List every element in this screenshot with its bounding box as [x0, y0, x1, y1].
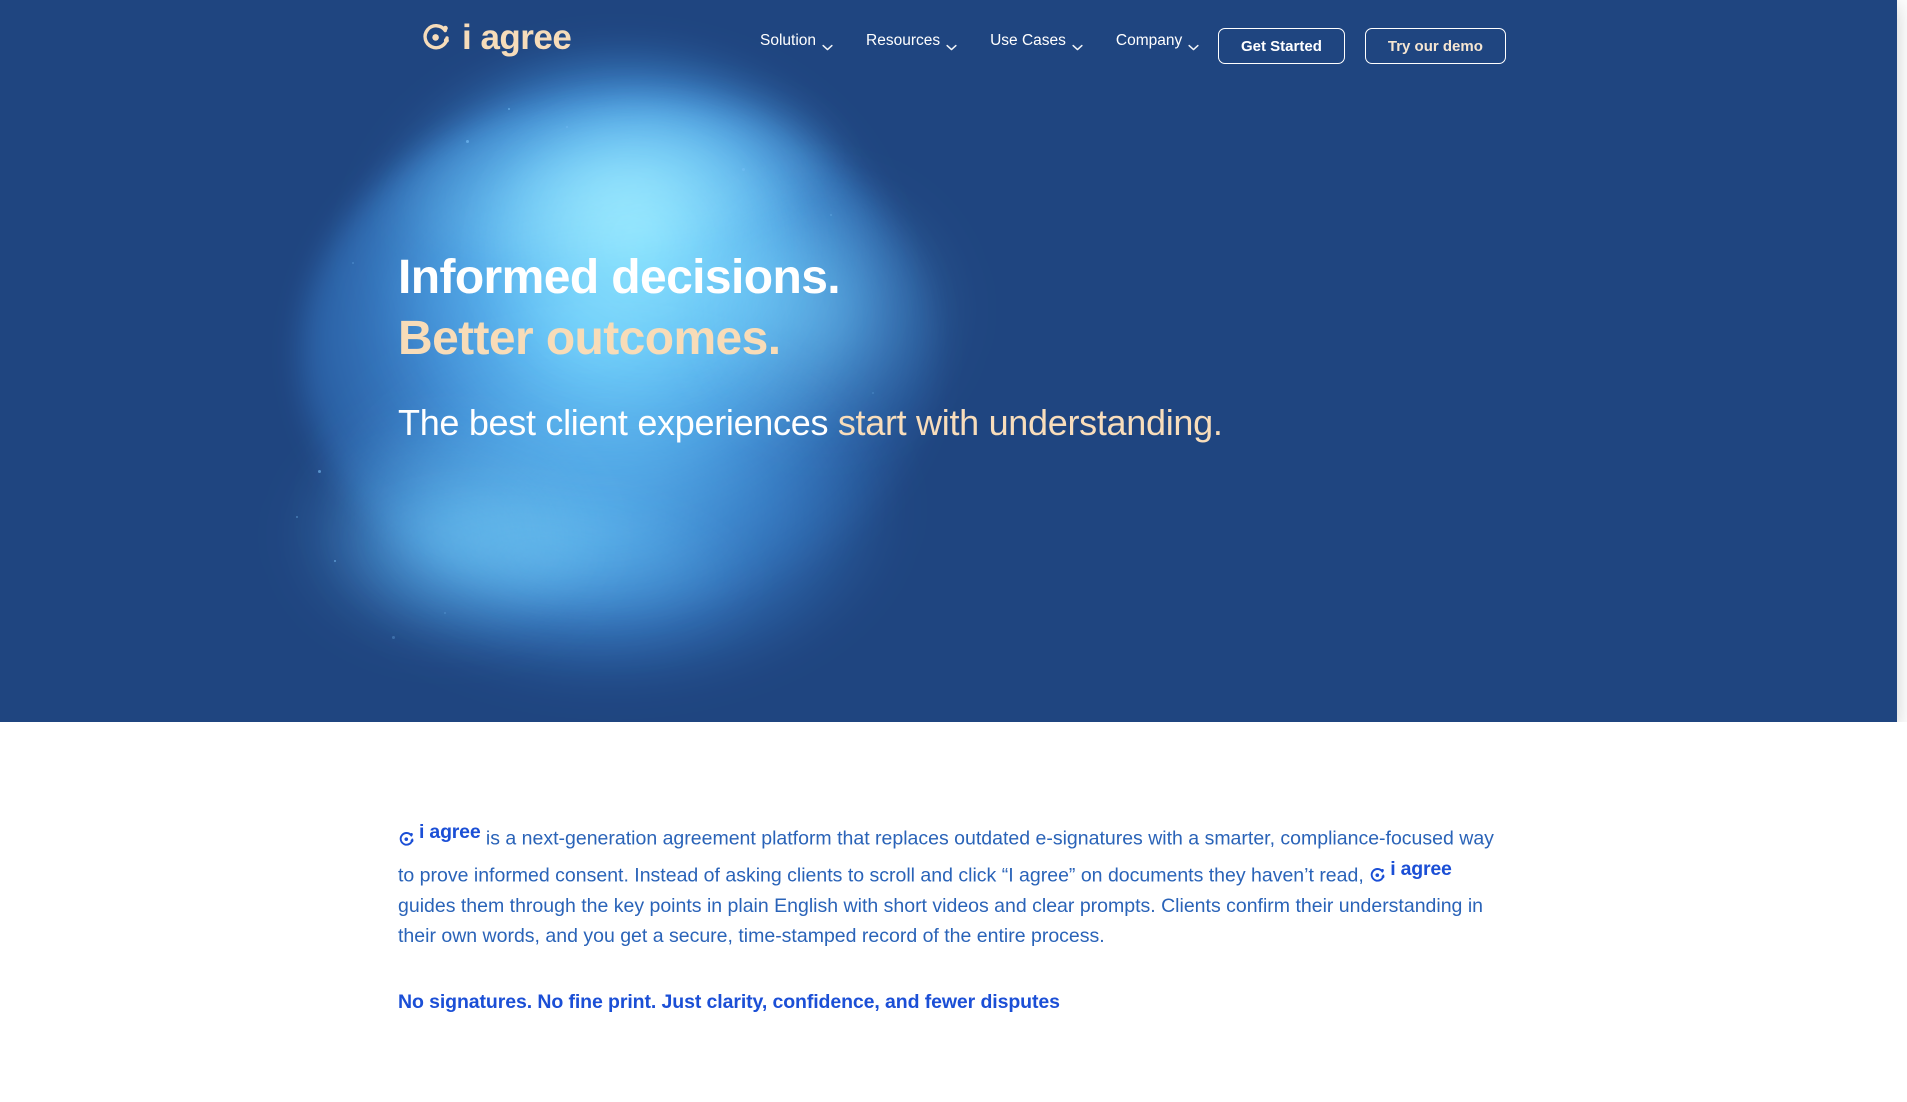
chevron-down-icon [1072, 38, 1083, 45]
nav-item-company[interactable]: Company [1116, 32, 1199, 50]
chevron-down-icon [946, 38, 957, 45]
hero-section: i agree Solution Resources Use Cases [0, 0, 1897, 722]
hero-headline-line-1: Informed decisions. [398, 248, 1223, 309]
nav-item-resources[interactable]: Resources [866, 32, 957, 50]
nav-item-company-label: Company [1116, 32, 1182, 50]
hero-copy: Informed decisions. Better outcomes. The… [398, 248, 1223, 444]
nav-actions: Get Started Try our demo [1218, 28, 1506, 64]
nav-links: Solution Resources Use Cases [760, 32, 1199, 50]
try-our-demo-button[interactable]: Try our demo [1365, 28, 1506, 64]
nav-item-solution-label: Solution [760, 32, 816, 50]
chevron-down-icon [1188, 38, 1199, 45]
intro-paragraph-segment-1: is a next-generation agreement platform … [398, 828, 1494, 887]
hero-subheadline-cream: start with understanding. [828, 402, 1222, 443]
iagree-circle-dot-logo-icon [420, 22, 452, 54]
landing-page: i agree Solution Resources Use Cases [0, 0, 1907, 1102]
hero-subheadline-white: The best client experiences [398, 402, 828, 443]
chevron-down-icon [822, 38, 833, 45]
main-navigation: i agree Solution Resources Use Cases [0, 0, 1897, 82]
nav-item-solution[interactable]: Solution [760, 32, 833, 50]
intro-copy-block: i agree is a next-generation agreement p… [398, 817, 1498, 1014]
inline-brand-logo-1: i agree [398, 817, 480, 847]
get-started-button[interactable]: Get Started [1218, 28, 1345, 64]
inline-brand-name-1: i agree [419, 817, 480, 847]
inline-brand-name-2: i agree [1390, 854, 1451, 884]
intro-tagline: No signatures. No fine print. Just clari… [398, 991, 1498, 1014]
intro-section: i agree is a next-generation agreement p… [0, 722, 1907, 1102]
nav-item-resources-label: Resources [866, 32, 940, 50]
brand-name: i agree [462, 20, 571, 55]
intro-paragraph: i agree is a next-generation agreement p… [398, 817, 1498, 951]
nav-item-use-cases-label: Use Cases [990, 32, 1066, 50]
nav-item-use-cases[interactable]: Use Cases [990, 32, 1083, 50]
iagree-circle-dot-logo-icon [1369, 863, 1386, 880]
hero-headline: Informed decisions. Better outcomes. [398, 248, 1223, 370]
brand-logo[interactable]: i agree [420, 20, 571, 55]
hero-subheadline: The best client experiences start with u… [398, 401, 1223, 444]
hero-headline-line-2: Better outcomes. [398, 309, 1223, 370]
intro-paragraph-segment-2: guides them through the key points in pl… [398, 895, 1483, 947]
inline-brand-logo-2: i agree [1369, 854, 1451, 884]
iagree-circle-dot-logo-icon [398, 827, 415, 844]
